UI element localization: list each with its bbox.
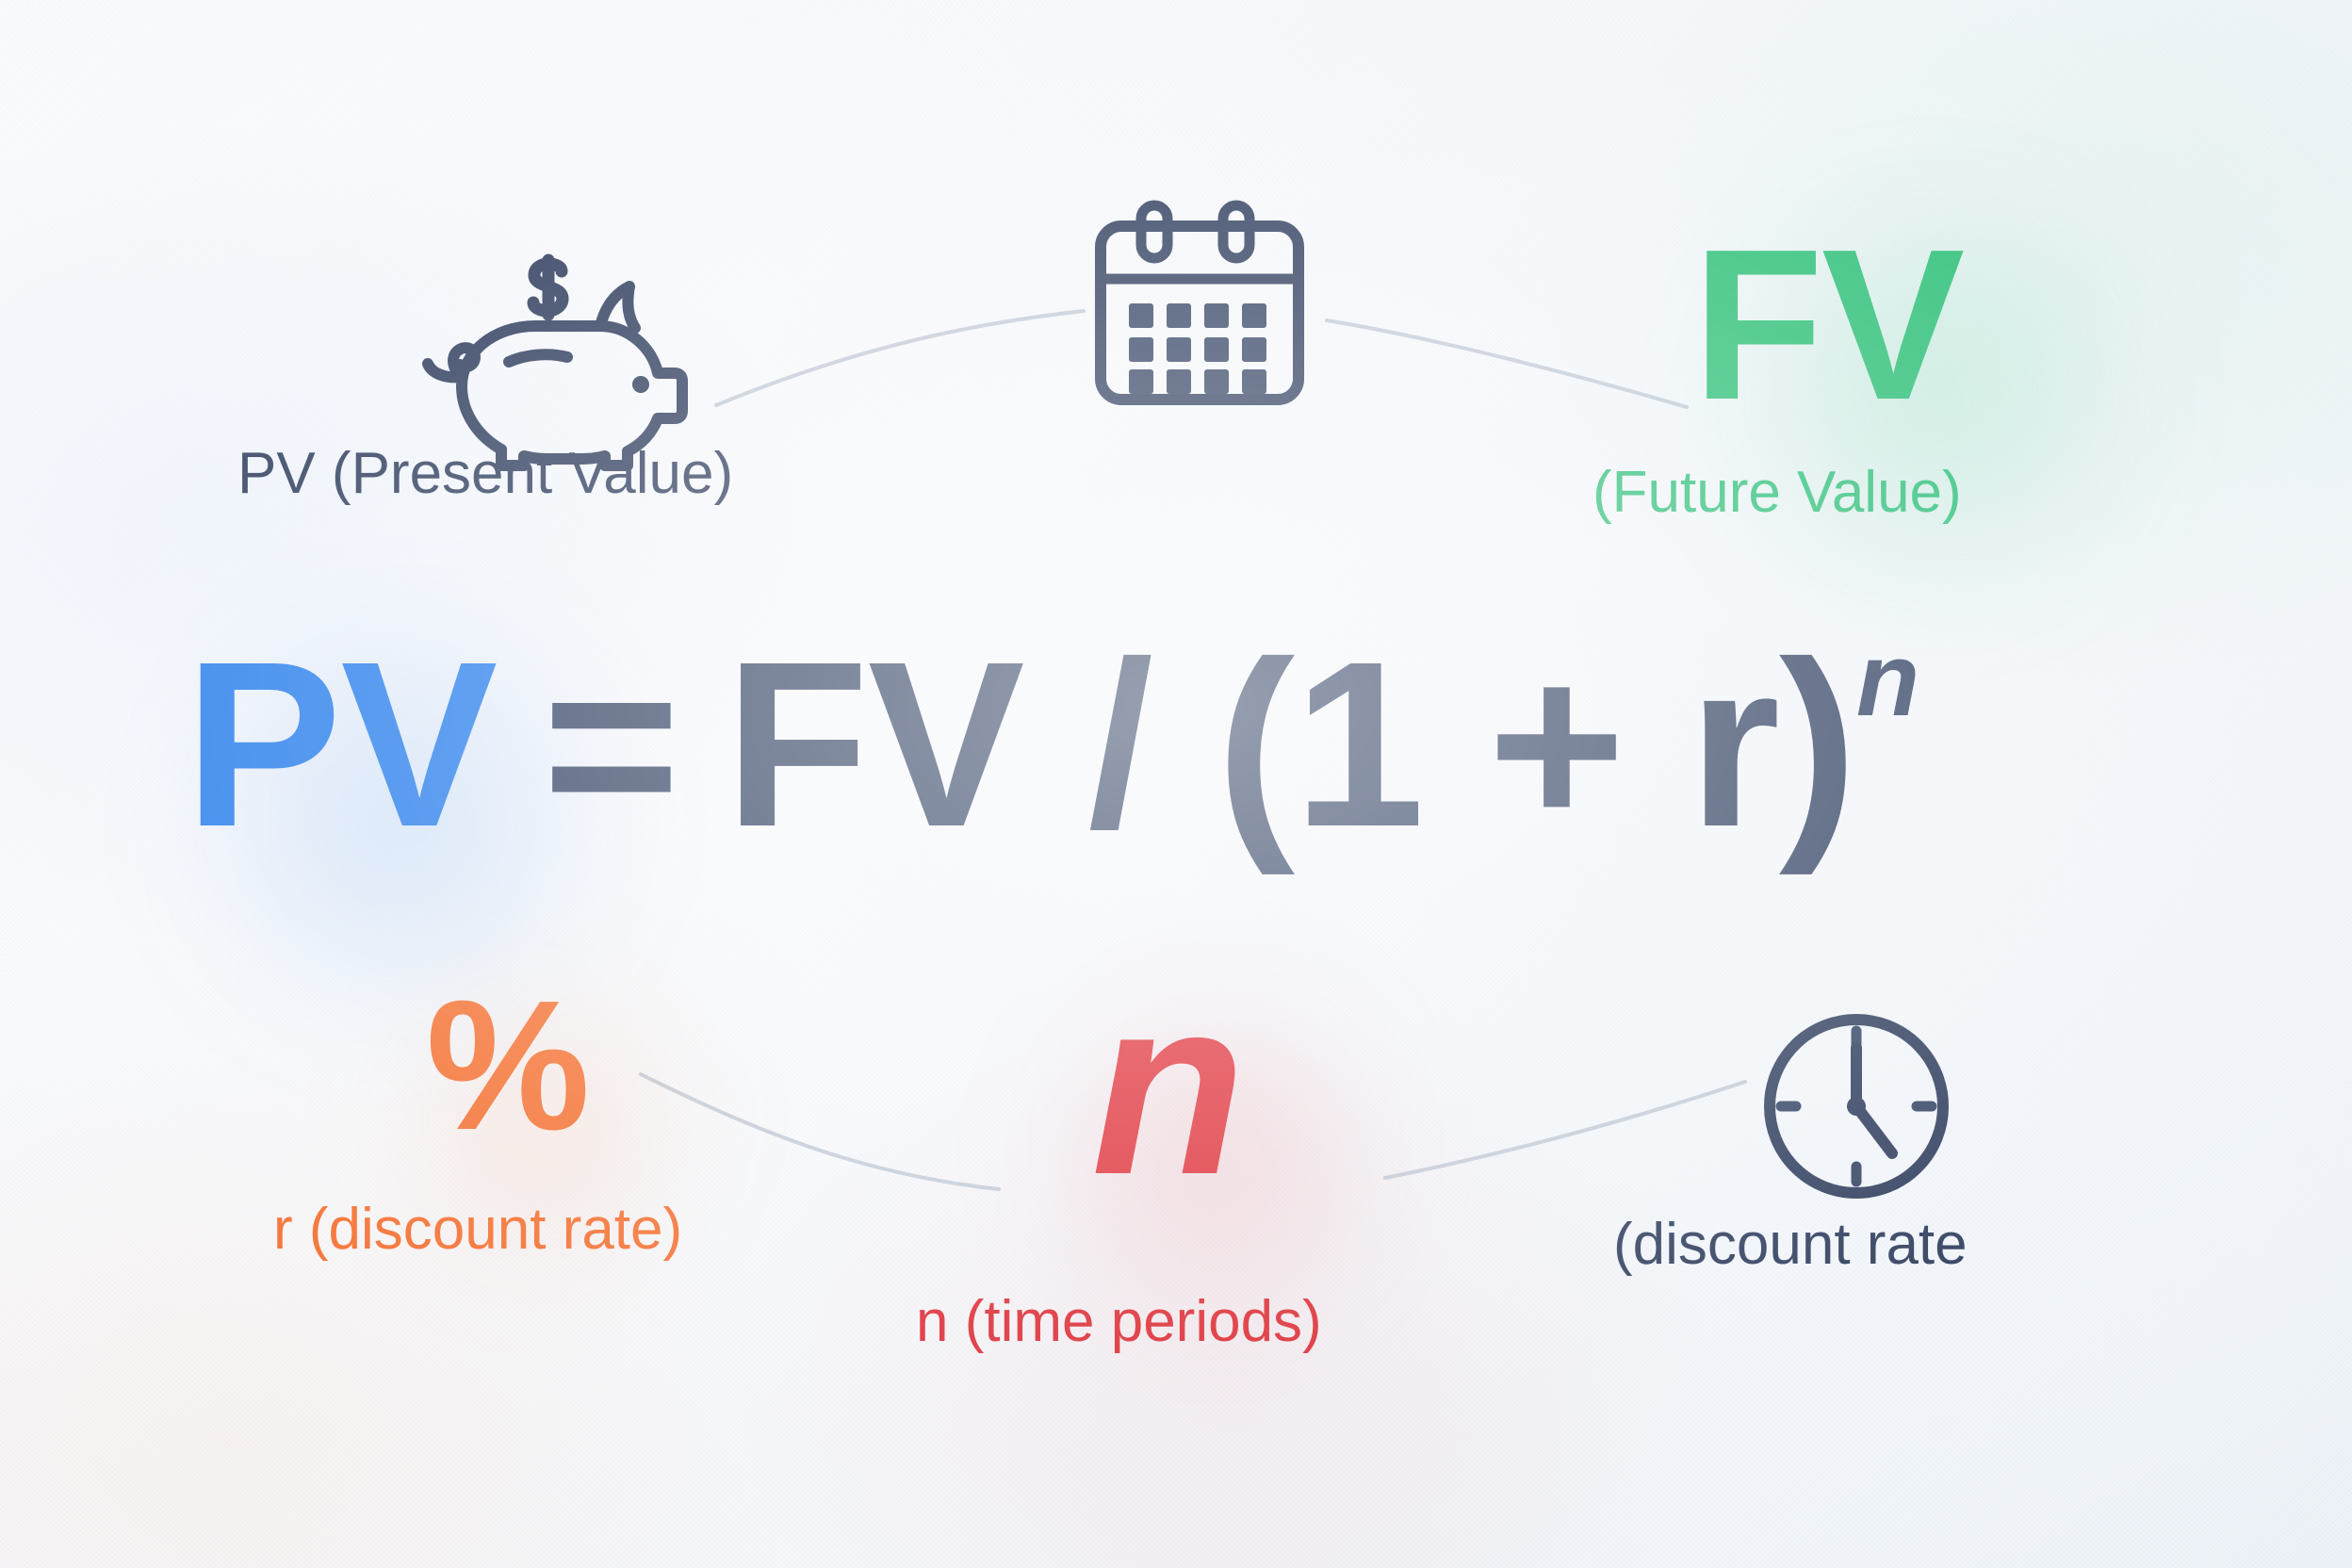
infographic-canvas: PV (Present Value) [0, 0, 2352, 1568]
pv-formula: PV = FV / (1 + r)n [185, 627, 1919, 862]
time-periods-caption-label: n (time periods) [916, 1291, 1322, 1352]
formula-lhs: PV [185, 612, 497, 875]
clock-discount-rate-caption-label: (discount rate [1613, 1214, 1968, 1275]
clock-icon [1760, 1010, 1953, 1203]
formula-rhs-exponent: n [1856, 622, 1919, 738]
connector-n-to-clock [1385, 1082, 1745, 1178]
formula-operator: = [497, 612, 725, 875]
connector-percent-to-n [641, 1074, 999, 1189]
future-value-symbol: FV [1692, 229, 1963, 422]
pv-caption-label: PV (Present Value) [237, 443, 733, 504]
future-value-caption-label: (Future Value) [1592, 462, 1962, 523]
connector-piggy-to-calendar [716, 311, 1084, 405]
discount-rate-caption-label: r (discount rate) [273, 1199, 682, 1260]
n-symbol: n [1091, 972, 1243, 1200]
formula-rhs-base: FV / (1 + r) [725, 612, 1856, 875]
percent-symbol: % [426, 983, 588, 1149]
connector-calendar-to-fv [1327, 320, 1687, 407]
calendar-icon [1091, 200, 1308, 409]
